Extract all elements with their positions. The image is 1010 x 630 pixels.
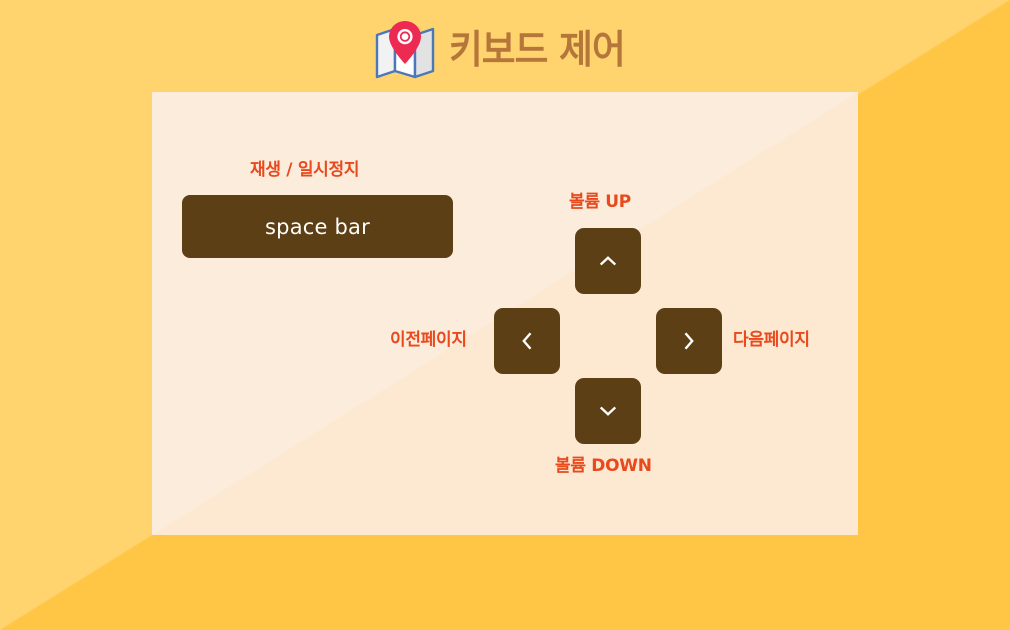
chevron-up-icon <box>597 250 619 272</box>
keyboard-controls-card: 재생 / 일시정지 space bar 볼륨 UP 이전페이지 다음페이지 <box>152 92 858 535</box>
chevron-left-icon <box>516 330 538 352</box>
label-volume-up: 볼륨 UP <box>569 194 631 211</box>
spacebar-key[interactable]: space bar <box>182 195 453 258</box>
chevron-down-icon <box>597 400 619 422</box>
label-volume-down: 볼륨 DOWN <box>555 458 652 475</box>
map-pin-icon <box>375 21 437 79</box>
chevron-right-icon <box>678 330 700 352</box>
arrow-left-key[interactable] <box>494 308 560 374</box>
page-root: 키보드 제어 재생 / 일시정지 space bar 볼륨 UP 이전페이지 <box>0 0 1010 630</box>
page-title: 키보드 제어 <box>449 31 625 70</box>
spacebar-key-label: space bar <box>265 215 370 239</box>
arrow-down-key[interactable] <box>575 378 641 444</box>
label-play-pause: 재생 / 일시정지 <box>250 162 359 179</box>
label-previous-page: 이전페이지 <box>390 332 467 349</box>
label-next-page: 다음페이지 <box>733 332 810 349</box>
arrow-up-key[interactable] <box>575 228 641 294</box>
page-header: 키보드 제어 <box>0 14 1010 86</box>
arrow-right-key[interactable] <box>656 308 722 374</box>
